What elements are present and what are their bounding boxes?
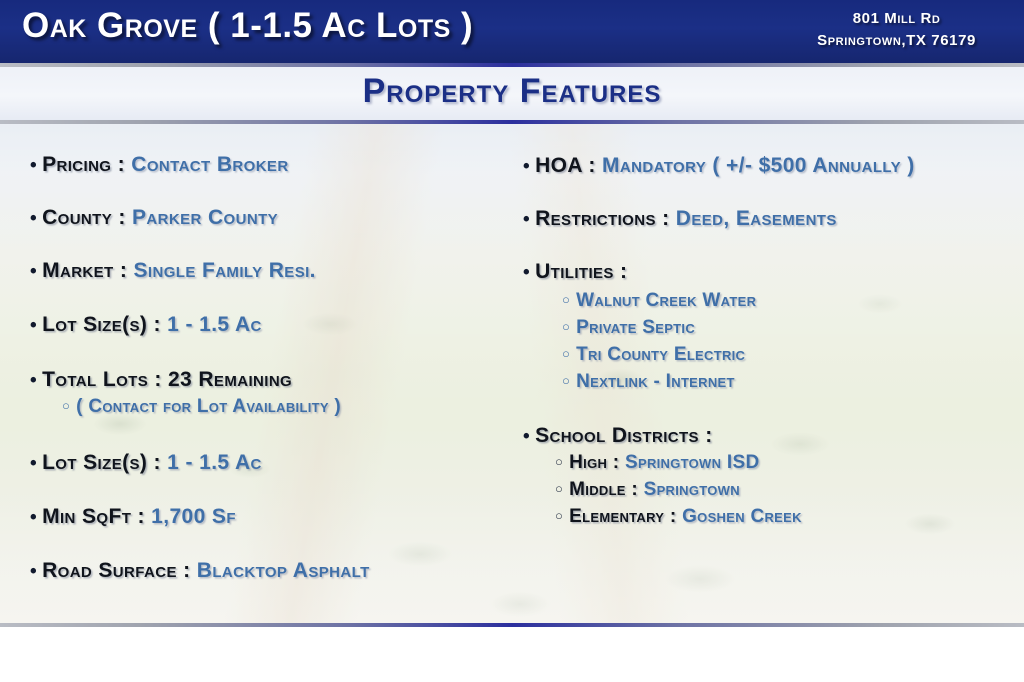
sub-bullet-icon: ○ (555, 454, 563, 469)
school-level-label: Elementary : (569, 506, 676, 527)
utility-item: ○Private Septic (562, 318, 695, 337)
feature-label: Restrictions : (535, 207, 669, 230)
feature-value: 1 - 1.5 Ac (167, 451, 262, 474)
school-name: Springtown ISD (625, 452, 759, 473)
feature-value: Single Family Resi. (134, 259, 316, 282)
feature-label: Lot Size(s) : (42, 451, 161, 474)
feature-value: Parker County (132, 206, 278, 229)
feature-utilities: •Utilities : (523, 261, 627, 282)
bullet-icon: • (30, 315, 37, 336)
divider-bottom (0, 623, 1024, 627)
utility-item: ○Walnut Creek Water (562, 291, 756, 310)
feature-value: Deed, Easements (676, 207, 837, 230)
feature-label: Pricing : (42, 153, 125, 176)
bullet-icon: • (523, 262, 530, 283)
bullet-icon: • (30, 208, 37, 229)
school-level-label: Middle : (569, 479, 638, 500)
feature-value: Mandatory ( +/- $500 Annually ) (602, 154, 915, 177)
feature-pricing: •Pricing : Contact Broker (30, 154, 289, 175)
school-item-elementary: ○Elementary : Goshen Creek (555, 507, 802, 526)
bullet-icon: • (30, 370, 37, 391)
bullet-icon: • (30, 155, 37, 176)
sub-bullet-icon: ○ (62, 398, 70, 413)
property-features-slide: Oak Grove ( 1-1.5 Ac Lots ) 801 Mill Rd … (0, 0, 1024, 682)
sub-bullet-icon: ○ (562, 373, 570, 388)
feature-school-districts: •School Districts : (523, 425, 713, 446)
slide-header: Oak Grove ( 1-1.5 Ac Lots ) 801 Mill Rd … (0, 0, 1024, 63)
school-name: Goshen Creek (682, 506, 802, 527)
bullet-icon: • (523, 209, 530, 230)
feature-label: Lot Size(s) : (42, 313, 161, 336)
utility-name: Nextlink - Internet (576, 371, 735, 392)
feature-label: Market : (42, 259, 127, 282)
sub-bullet-icon: ○ (555, 481, 563, 496)
utility-name: Private Septic (576, 317, 695, 338)
feature-restrictions: •Restrictions : Deed, Easements (523, 208, 837, 229)
feature-lot-size-2: •Lot Size(s) : 1 - 1.5 Ac (30, 452, 262, 473)
utility-item: ○Nextlink - Internet (562, 372, 735, 391)
feature-label: School Districts : (535, 424, 713, 447)
bullet-icon: • (523, 156, 530, 177)
school-item-high: ○High : Springtown ISD (555, 453, 759, 472)
feature-label: Utilities : (535, 260, 627, 283)
sub-bullet-icon: ○ (555, 508, 563, 523)
section-title: Property Features (0, 72, 1024, 111)
utility-item: ○Tri County Electric (562, 345, 745, 364)
school-name: Springtown (644, 479, 740, 500)
feature-label: Min SqFt : (42, 505, 145, 528)
sub-bullet-icon: ○ (562, 292, 570, 307)
feature-label: Total Lots : 23 Remaining (42, 368, 292, 391)
sub-bullet-icon: ○ (562, 319, 570, 334)
feature-value: 1 - 1.5 Ac (167, 313, 262, 336)
bullet-icon: • (30, 561, 37, 582)
feature-market: •Market : Single Family Resi. (30, 260, 316, 281)
school-level-label: High : (569, 452, 619, 473)
feature-label: HOA : (535, 154, 596, 177)
feature-hoa: •HOA : Mandatory ( +/- $500 Annually ) (523, 155, 915, 176)
address-line-1: 801 Mill Rd (817, 8, 976, 30)
utility-name: Walnut Creek Water (576, 290, 756, 311)
feature-value: Contact Broker (131, 153, 288, 176)
feature-lot-size-1: •Lot Size(s) : 1 - 1.5 Ac (30, 314, 262, 335)
utility-name: Tri County Electric (576, 344, 745, 365)
bullet-icon: • (30, 453, 37, 474)
features-content: •Pricing : Contact Broker •County : Park… (0, 124, 1024, 623)
feature-label: Road Surface : (42, 559, 190, 582)
bullet-icon: • (523, 426, 530, 447)
bullet-icon: • (30, 261, 37, 282)
feature-min-sqft: •Min SqFt : 1,700 Sf (30, 506, 236, 527)
bullet-icon: • (30, 507, 37, 528)
page-title: Oak Grove ( 1-1.5 Ac Lots ) (22, 6, 473, 46)
sub-bullet-icon: ○ (562, 346, 570, 361)
feature-value: 1,700 Sf (151, 505, 236, 528)
feature-total-lots: •Total Lots : 23 Remaining (30, 369, 292, 390)
address-line-2: Springtown,TX 76179 (817, 30, 976, 52)
school-item-middle: ○Middle : Springtown (555, 480, 740, 499)
feature-label: County : (42, 206, 126, 229)
note-text: ( Contact for Lot Availability ) (76, 396, 341, 417)
feature-value: Blacktop Asphalt (197, 559, 370, 582)
feature-county: •County : Parker County (30, 207, 278, 228)
feature-road-surface: •Road Surface : Blacktop Asphalt (30, 560, 370, 581)
feature-total-lots-note: ○( Contact for Lot Availability ) (62, 397, 341, 416)
property-address: 801 Mill Rd Springtown,TX 76179 (817, 8, 976, 52)
